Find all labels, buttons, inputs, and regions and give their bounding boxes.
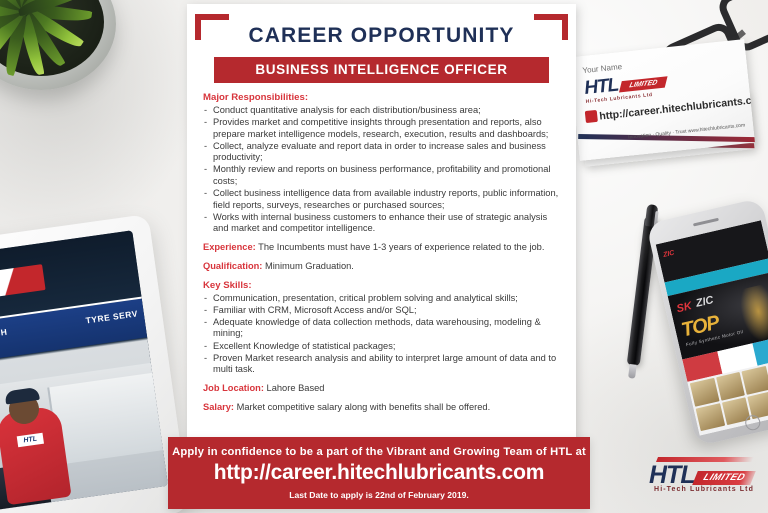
corner-bracket-top-left <box>195 14 229 40</box>
card-logo-limited: LIMITED <box>619 76 668 92</box>
list-item: Collect, analyze evaluate and report dat… <box>203 141 561 164</box>
list-item: Familiar with CRM, Microsoft Access and/… <box>203 305 561 317</box>
page-title: CAREER OPPORTUNITY <box>198 24 565 48</box>
corner-bracket-top-right <box>534 14 568 40</box>
list-item: Provides market and competitive insights… <box>203 117 561 140</box>
qualification-row: Qualification: Minimum Graduation. <box>203 261 561 273</box>
experience-value: The Incumbents must have 1-3 years of ex… <box>258 242 544 252</box>
key-skills-list: Communication, presentation, critical pr… <box>203 293 561 376</box>
salary-label: Salary: <box>203 402 234 412</box>
list-item: Adequate knowledge of data collection me… <box>203 317 561 340</box>
application-deadline: Last Date to apply is 22nd of February 2… <box>168 490 590 500</box>
card-htl-logo: HTL LIMITED Hi-Tech Lubricants Ltd <box>583 69 671 106</box>
business-card-front: Your Name HTL LIMITED Hi-Tech Lubricants… <box>569 39 755 161</box>
list-item: Works with internal business customers t… <box>203 212 561 235</box>
phone-speaker <box>693 218 719 227</box>
experience-row: Experience: The Incumbents must have 1-3… <box>203 242 561 254</box>
job-advert-poster: CAREER OPPORTUNITY BUSINESS INTELLIGENCE… <box>187 4 576 441</box>
site-brand-logo: ZIC <box>662 249 675 258</box>
hero-zic-label: ZIC <box>695 294 715 310</box>
tablet-screen: HTL CAR WASH TYRE SERV HTL <box>0 230 168 513</box>
product-thumb[interactable] <box>716 372 745 400</box>
experience-label: Experience: <box>203 242 256 252</box>
responsibilities-list: Conduct quantitative analysis for each d… <box>203 105 561 235</box>
product-thumb[interactable] <box>690 378 719 406</box>
list-item: Monthly review and reports on business p… <box>203 164 561 187</box>
job-location-value: Lahore Based <box>267 383 325 393</box>
product-thumb[interactable] <box>741 366 768 394</box>
logo-limited-band: LIMITED <box>692 471 756 485</box>
service-label-car-wash: CAR WASH <box>0 326 8 343</box>
card-name-placeholder: Your Name <box>582 62 622 75</box>
list-item: Excellent Knowledge of statistical packa… <box>203 341 561 353</box>
list-item: Proven Market research analysis and abil… <box>203 353 561 376</box>
list-item: Communication, presentation, critical pr… <box>203 293 561 305</box>
product-bottle-image <box>736 283 768 345</box>
logo-tagline: Hi-Tech Lubricants Ltd <box>651 486 757 493</box>
htl-company-logo: HTL LIMITED Hi-Tech Lubricants Ltd <box>645 455 757 499</box>
advert-body: Major Responsibilities: Conduct quantita… <box>198 92 565 413</box>
list-item: Collect business intelligence data from … <box>203 188 561 211</box>
responsibilities-heading: Major Responsibilities: <box>203 92 561 103</box>
job-location-label: Job Location: <box>203 383 264 393</box>
salary-value: Market competitive salary along with ben… <box>237 402 491 412</box>
list-item: Conduct quantitative analysis for each d… <box>203 105 561 117</box>
job-position-band: BUSINESS INTELLIGENCE OFFICER <box>214 57 549 83</box>
apply-banner: Apply in confidence to be a part of the … <box>168 437 590 509</box>
service-label-tyre-service: TYRE SERV <box>85 308 138 325</box>
card-url-badge-icon <box>585 110 598 123</box>
potted-plant <box>0 0 148 122</box>
job-location-row: Job Location: Lahore Based <box>203 383 561 395</box>
salary-row: Salary: Market competitive salary along … <box>203 402 561 414</box>
career-url-link[interactable]: http://career.hitechlubricants.com <box>168 461 590 485</box>
desk-scene: HTL CAR WASH TYRE SERV HTL Innovation · … <box>0 0 768 513</box>
hero-sk-label: SK <box>675 300 693 315</box>
pen-tip <box>628 364 637 379</box>
qualification-value: Minimum Graduation. <box>265 261 354 271</box>
key-skills-heading: Key Skills: <box>203 280 561 291</box>
apply-instruction: Apply in confidence to be a part of the … <box>168 437 590 458</box>
product-thumb[interactable] <box>696 403 725 431</box>
qualification-label: Qualification: <box>203 261 262 271</box>
